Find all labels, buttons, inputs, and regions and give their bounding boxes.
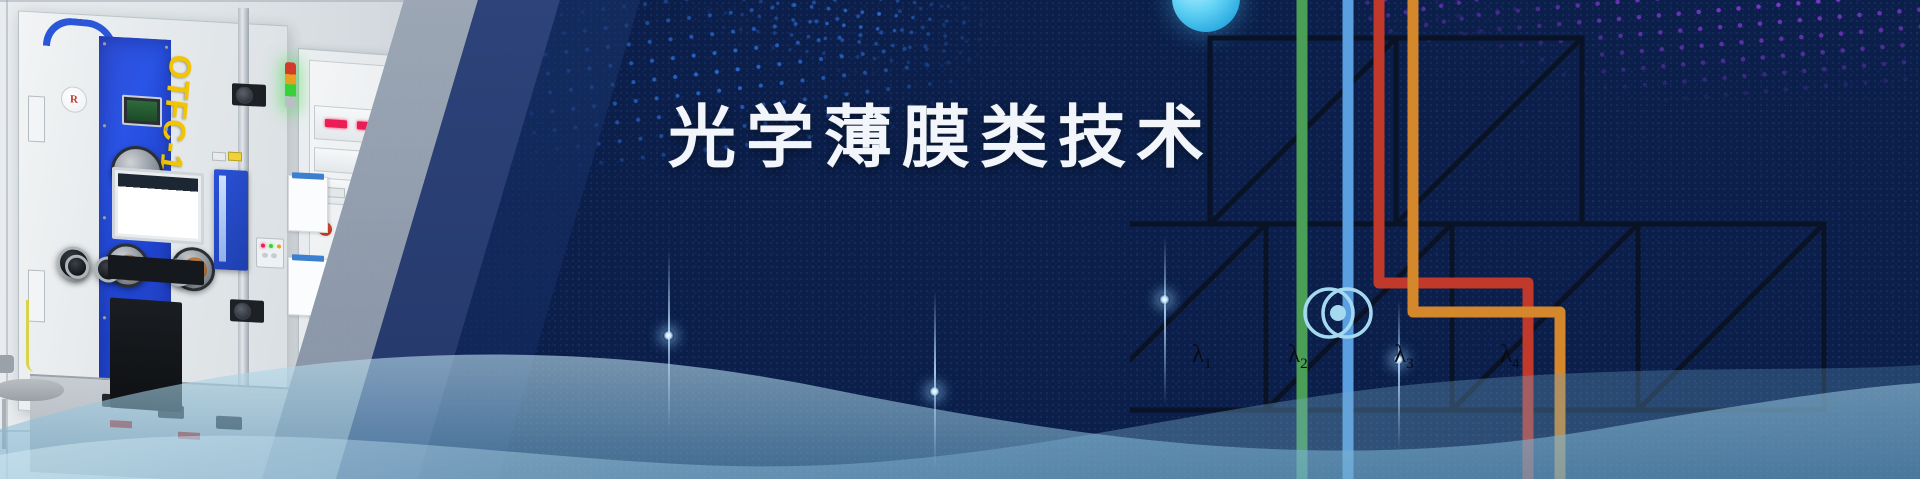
signal-tower-light (285, 62, 296, 109)
light-beam-dot-2 (929, 386, 940, 397)
lambda-subscript-1: 1 (1204, 356, 1212, 372)
hero-banner: R OTFC-1300 (0, 0, 1920, 479)
lambda-symbol-1: λ (1192, 341, 1204, 368)
page-title: 光学薄膜类技术 (668, 104, 1214, 172)
manufacturer-logo: R (61, 85, 87, 113)
lambda-subscript-3: 3 (1406, 356, 1414, 372)
light-beam-3 (1164, 236, 1166, 406)
lambda-label-1: λ1 (1192, 341, 1212, 373)
lambda-symbol-3: λ (1394, 341, 1406, 368)
lambda-subscript-4: 4 (1512, 356, 1520, 372)
light-beam-dot-3 (1159, 294, 1170, 305)
auxiliary-display (122, 95, 162, 128)
light-beam-4 (1398, 300, 1400, 450)
lambda-label-3: λ3 (1394, 341, 1414, 373)
light-beam-dot-1 (663, 330, 674, 341)
control-keypad (256, 237, 284, 268)
light-beam-2 (934, 290, 936, 470)
hand-valve-upper (232, 83, 266, 107)
lambda-label-2: λ2 (1288, 341, 1308, 373)
process-monitor (112, 167, 204, 245)
logo-letter: R (62, 86, 86, 112)
clipboard-upper (288, 175, 328, 233)
bottom-wave-decoration (0, 279, 1920, 479)
lambda-symbol-2: λ (1288, 341, 1300, 368)
lambda-subscript-2: 2 (1300, 356, 1308, 372)
viewport-left-inner (65, 254, 89, 279)
lambda-symbol-4: λ (1500, 341, 1512, 368)
warning-label-a (212, 152, 226, 162)
wall-terminal-box-upper (28, 96, 45, 143)
warning-label-b (228, 152, 242, 162)
lambda-label-4: λ4 (1500, 341, 1520, 373)
blue-control-box (214, 169, 248, 271)
